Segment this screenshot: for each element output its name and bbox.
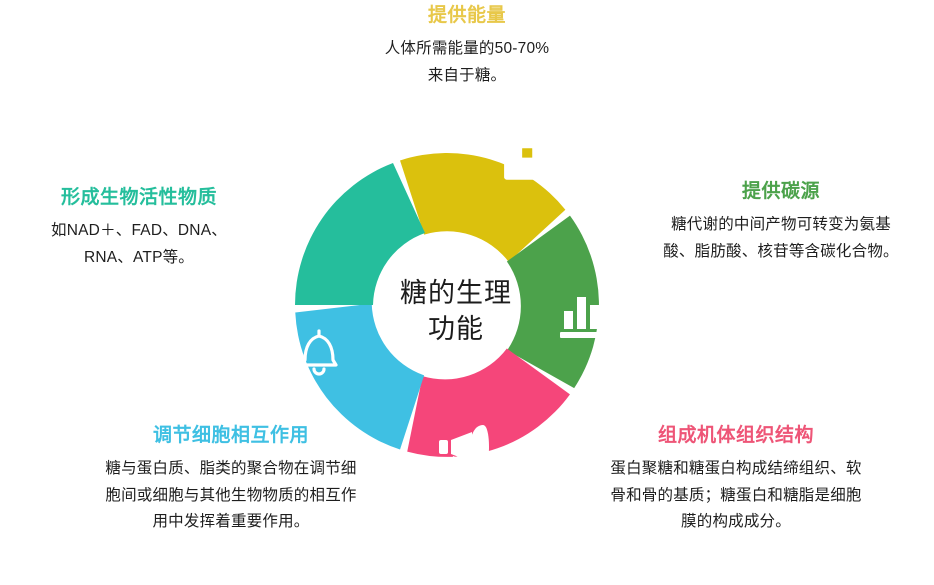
section-carbon-line-1: 糖代谢的中间产物可转变为氨基: [632, 212, 930, 239]
section-energy-body: 人体所需能量的50-70% 来自于糖。: [312, 36, 622, 90]
section-regulate-line-3: 用中发挥着重要作用。: [44, 509, 418, 536]
section-energy: 提供能量 人体所需能量的50-70% 来自于糖。: [312, 4, 622, 89]
section-energy-line-1: 人体所需能量的50-70%: [312, 36, 622, 63]
section-tissue: 组成机体组织结构 蛋白聚糖和糖蛋白构成结缔组织、软 骨和骨的基质；糖蛋白和糖脂是…: [540, 424, 932, 536]
section-tissue-line-2: 骨和骨的基质；糖蛋白和糖脂是细胞: [540, 483, 932, 510]
section-energy-line-2: 来自于糖。: [312, 63, 622, 90]
section-carbon-line-2: 酸、脂肪酸、核苷等含碳化合物。: [632, 239, 930, 266]
section-bioactive: 形成生物活性物质 如NAD＋、FAD、DNA、 RNA、ATP等。: [8, 186, 270, 271]
section-bioactive-line-1: 如NAD＋、FAD、DNA、: [8, 218, 270, 245]
section-tissue-line-3: 膜的构成成分。: [540, 509, 932, 536]
section-tissue-title: 组成机体组织结构: [540, 424, 932, 449]
section-carbon: 提供碳源 糖代谢的中间产物可转变为氨基 酸、脂肪酸、核苷等含碳化合物。: [632, 180, 930, 265]
section-regulate-line-2: 胞间或细胞与其他生物物质的相互作: [44, 483, 418, 510]
section-carbon-body: 糖代谢的中间产物可转变为氨基 酸、脂肪酸、核苷等含碳化合物。: [632, 212, 930, 266]
section-regulate-body: 糖与蛋白质、脂类的聚合物在调节细 胞间或细胞与其他生物物质的相互作 用中发挥着重…: [44, 456, 418, 536]
section-bioactive-body: 如NAD＋、FAD、DNA、 RNA、ATP等。: [8, 218, 270, 272]
section-carbon-title: 提供碳源: [632, 180, 930, 205]
section-bioactive-title: 形成生物活性物质: [8, 186, 270, 211]
section-regulate-title: 调节细胞相互作用: [44, 424, 418, 449]
section-regulate-line-1: 糖与蛋白质、脂类的聚合物在调节细: [44, 456, 418, 483]
infographic-canvas: 糖的生理 功能 提供能量 人体所需能量的50-70% 来自于糖。 形成生物活性物…: [0, 0, 934, 585]
heart-icon: [295, 145, 343, 193]
section-tissue-line-1: 蛋白聚糖和糖蛋白构成结缔组织、软: [540, 456, 932, 483]
section-tissue-body: 蛋白聚糖和糖蛋白构成结缔组织、软 骨和骨的基质；糖蛋白和糖脂是细胞 膜的构成成分…: [540, 456, 932, 536]
section-bioactive-line-2: RNA、ATP等。: [8, 245, 270, 272]
section-energy-title: 提供能量: [312, 4, 622, 29]
section-regulate: 调节细胞相互作用 糖与蛋白质、脂类的聚合物在调节细 胞间或细胞与其他生物物质的相…: [44, 424, 418, 536]
briefcase-icon: [504, 134, 550, 180]
